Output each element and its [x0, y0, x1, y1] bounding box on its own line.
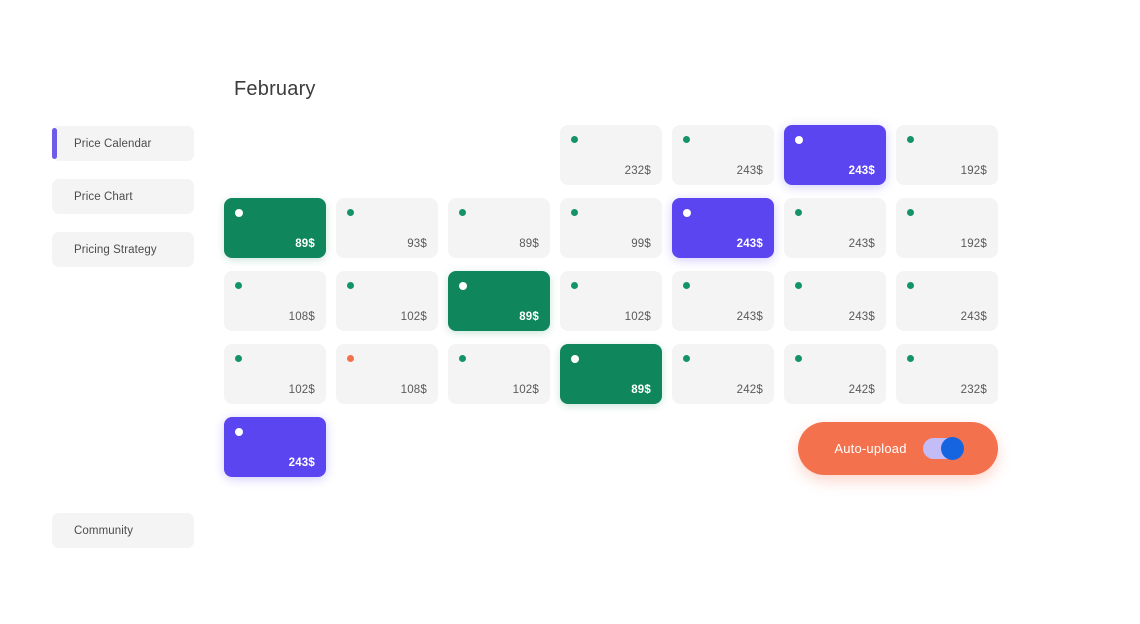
- calendar-day-cell[interactable]: 93$: [336, 198, 438, 258]
- day-price-label: 242$: [737, 384, 763, 396]
- calendar-day-cell[interactable]: 243$: [224, 417, 326, 477]
- availability-status-dot-icon: [235, 355, 242, 362]
- calendar-cell-empty: [672, 417, 774, 477]
- availability-status-dot-icon: [459, 355, 466, 362]
- availability-status-dot-icon: [571, 136, 578, 143]
- calendar-cell-empty: [336, 125, 438, 185]
- day-price-label: 192$: [961, 238, 987, 250]
- day-price-label: 232$: [961, 384, 987, 396]
- availability-status-dot-icon: [459, 209, 466, 216]
- sidebar-footer: Community: [52, 513, 194, 548]
- availability-status-dot-icon: [571, 355, 579, 363]
- sidebar-nav: Price Calendar Price Chart Pricing Strat…: [52, 126, 194, 285]
- availability-status-dot-icon: [571, 282, 578, 289]
- availability-status-dot-icon: [683, 282, 690, 289]
- calendar-day-cell[interactable]: 89$: [448, 198, 550, 258]
- day-price-label: 89$: [519, 238, 539, 250]
- day-price-label: 102$: [625, 311, 651, 323]
- availability-status-dot-icon: [795, 136, 803, 144]
- calendar-day-cell[interactable]: 232$: [896, 344, 998, 404]
- calendar-day-cell[interactable]: 102$: [448, 344, 550, 404]
- page-title: February: [224, 78, 1014, 101]
- toggle-knob-icon: [941, 437, 964, 460]
- day-price-label: 108$: [401, 384, 427, 396]
- day-price-label: 102$: [513, 384, 539, 396]
- calendar-day-cell[interactable]: 108$: [224, 271, 326, 331]
- calendar-day-cell[interactable]: 243$: [672, 198, 774, 258]
- calendar-day-cell[interactable]: 89$: [224, 198, 326, 258]
- calendar-day-cell[interactable]: 102$: [224, 344, 326, 404]
- availability-status-dot-icon: [795, 209, 802, 216]
- day-price-label: 243$: [737, 311, 763, 323]
- availability-status-dot-icon: [347, 355, 354, 362]
- availability-status-dot-icon: [683, 209, 691, 217]
- calendar-day-cell[interactable]: 243$: [784, 198, 886, 258]
- calendar-day-cell[interactable]: 89$: [448, 271, 550, 331]
- calendar-cell-empty: [560, 417, 662, 477]
- day-price-label: 89$: [631, 384, 651, 396]
- availability-status-dot-icon: [907, 209, 914, 216]
- calendar-day-cell[interactable]: 89$: [560, 344, 662, 404]
- availability-status-dot-icon: [907, 136, 914, 143]
- price-calendar-app: Price Calendar Price Chart Pricing Strat…: [0, 0, 1140, 624]
- calendar-day-cell[interactable]: 102$: [336, 271, 438, 331]
- calendar-day-cell[interactable]: 192$: [896, 125, 998, 185]
- calendar-cell-empty: [448, 417, 550, 477]
- sidebar-item-label: Pricing Strategy: [52, 244, 157, 256]
- sidebar-item-community[interactable]: Community: [52, 513, 194, 548]
- calendar-day-cell[interactable]: 108$: [336, 344, 438, 404]
- availability-status-dot-icon: [571, 209, 578, 216]
- calendar-cell-empty: [224, 125, 326, 185]
- sidebar-item-price-calendar[interactable]: Price Calendar: [52, 126, 194, 161]
- day-price-label: 93$: [407, 238, 427, 250]
- calendar-day-cell[interactable]: 243$: [672, 271, 774, 331]
- day-price-label: 102$: [289, 384, 315, 396]
- day-price-label: 243$: [849, 238, 875, 250]
- sidebar-item-label: Community: [52, 525, 133, 537]
- sidebar-item-price-chart[interactable]: Price Chart: [52, 179, 194, 214]
- calendar-day-cell[interactable]: 243$: [784, 271, 886, 331]
- calendar-day-cell[interactable]: 242$: [784, 344, 886, 404]
- day-price-label: 243$: [737, 165, 763, 177]
- day-price-label: 192$: [961, 165, 987, 177]
- day-price-label: 243$: [289, 457, 315, 469]
- availability-status-dot-icon: [235, 428, 243, 436]
- availability-status-dot-icon: [347, 209, 354, 216]
- day-price-label: 89$: [295, 238, 315, 250]
- availability-status-dot-icon: [907, 282, 914, 289]
- day-price-label: 243$: [737, 238, 763, 250]
- availability-status-dot-icon: [795, 355, 802, 362]
- calendar-day-cell[interactable]: 232$: [560, 125, 662, 185]
- calendar-panel: February 232$243$243$192$89$93$89$99$243…: [224, 78, 1014, 477]
- availability-status-dot-icon: [459, 282, 467, 290]
- availability-status-dot-icon: [795, 282, 802, 289]
- day-price-label: 243$: [849, 165, 875, 177]
- availability-status-dot-icon: [235, 282, 242, 289]
- day-price-label: 243$: [961, 311, 987, 323]
- day-price-label: 243$: [849, 311, 875, 323]
- day-price-label: 108$: [289, 311, 315, 323]
- calendar-day-cell[interactable]: 243$: [672, 125, 774, 185]
- availability-status-dot-icon: [683, 355, 690, 362]
- sidebar-item-pricing-strategy[interactable]: Pricing Strategy: [52, 232, 194, 267]
- auto-upload-label: Auto-upload: [834, 441, 906, 456]
- availability-status-dot-icon: [235, 209, 243, 217]
- calendar-day-cell[interactable]: 102$: [560, 271, 662, 331]
- day-price-label: 232$: [625, 165, 651, 177]
- calendar-cell-empty: [336, 417, 438, 477]
- sidebar-item-label: Price Chart: [52, 191, 133, 203]
- auto-upload-toggle[interactable]: [923, 438, 962, 459]
- day-price-label: 89$: [519, 311, 539, 323]
- availability-status-dot-icon: [683, 136, 690, 143]
- day-price-label: 242$: [849, 384, 875, 396]
- calendar-cell-empty: [448, 125, 550, 185]
- availability-status-dot-icon: [907, 355, 914, 362]
- availability-status-dot-icon: [347, 282, 354, 289]
- day-price-label: 102$: [401, 311, 427, 323]
- calendar-day-cell[interactable]: 243$: [896, 271, 998, 331]
- calendar-day-cell[interactable]: 99$: [560, 198, 662, 258]
- calendar-day-cell[interactable]: 243$: [784, 125, 886, 185]
- calendar-day-cell[interactable]: 242$: [672, 344, 774, 404]
- calendar-day-cell[interactable]: 192$: [896, 198, 998, 258]
- sidebar-item-label: Price Calendar: [52, 138, 151, 150]
- day-price-label: 99$: [631, 238, 651, 250]
- auto-upload-button[interactable]: Auto-upload: [798, 422, 998, 475]
